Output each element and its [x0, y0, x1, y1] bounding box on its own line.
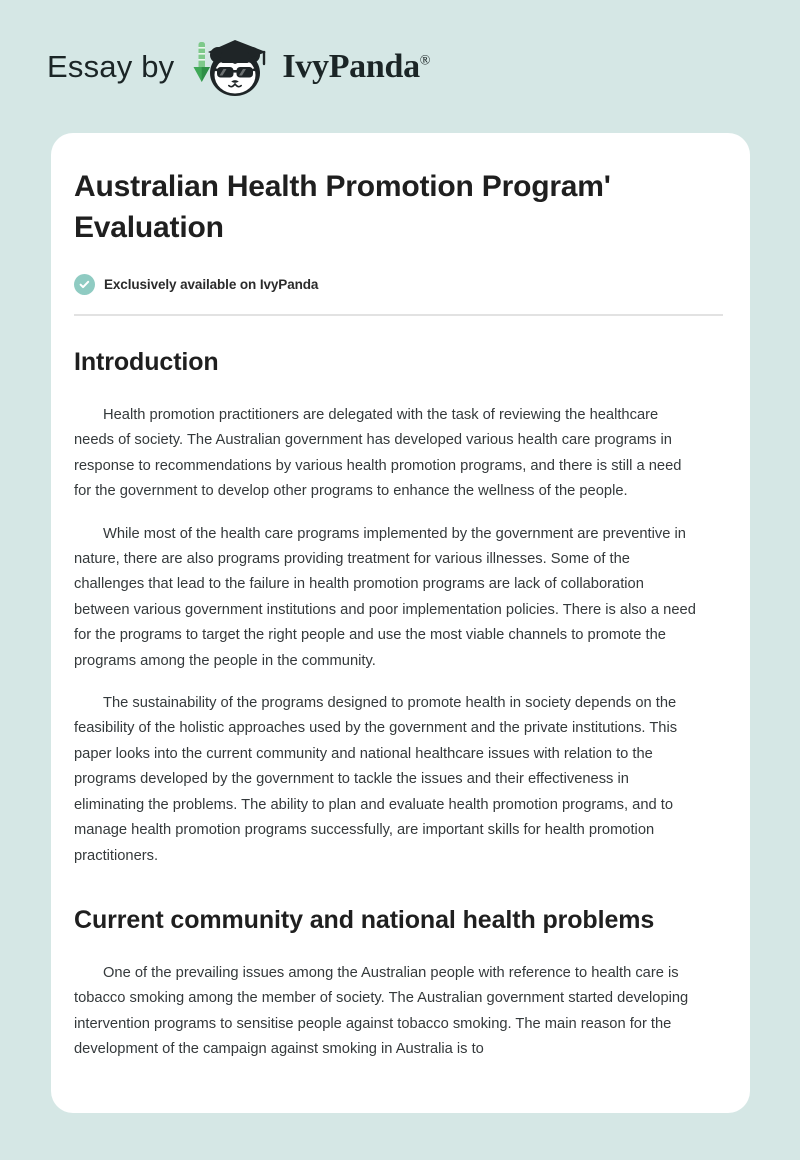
document-content: Australian Health Promotion Program' Eva… — [74, 166, 700, 1063]
paragraph: The sustainability of the programs desig… — [74, 691, 700, 869]
paragraph: One of the prevailing issues among the A… — [74, 961, 700, 1063]
section-heading-current-problems: Current community and national health pr… — [74, 900, 674, 940]
registered-trademark-symbol: ® — [420, 53, 431, 68]
status-badge: Exclusively available on IvyPanda — [74, 274, 700, 295]
page-header: Essay by — [0, 0, 800, 133]
ivypanda-panda-logo-icon — [188, 34, 280, 100]
essay-document-card: Australian Health Promotion Program' Eva… — [51, 133, 750, 1113]
essay-by-label: Essay by — [47, 49, 174, 85]
paragraph: Health promotion practitioners are deleg… — [74, 403, 700, 505]
paragraph: While most of the health care programs i… — [74, 522, 700, 674]
ivypanda-logo[interactable]: IvyPanda® — [188, 34, 430, 100]
section-heading-introduction: Introduction — [74, 342, 674, 382]
brand-lockup[interactable]: Essay by — [47, 34, 430, 100]
ivypanda-wordmark: IvyPanda® — [282, 48, 430, 86]
page-title: Australian Health Promotion Program' Eva… — [74, 166, 694, 248]
brand-name-text: IvyPanda — [282, 48, 419, 85]
check-circle-icon — [74, 274, 95, 295]
exclusive-availability-label: Exclusively available on IvyPanda — [104, 277, 318, 292]
header-divider — [74, 314, 723, 316]
